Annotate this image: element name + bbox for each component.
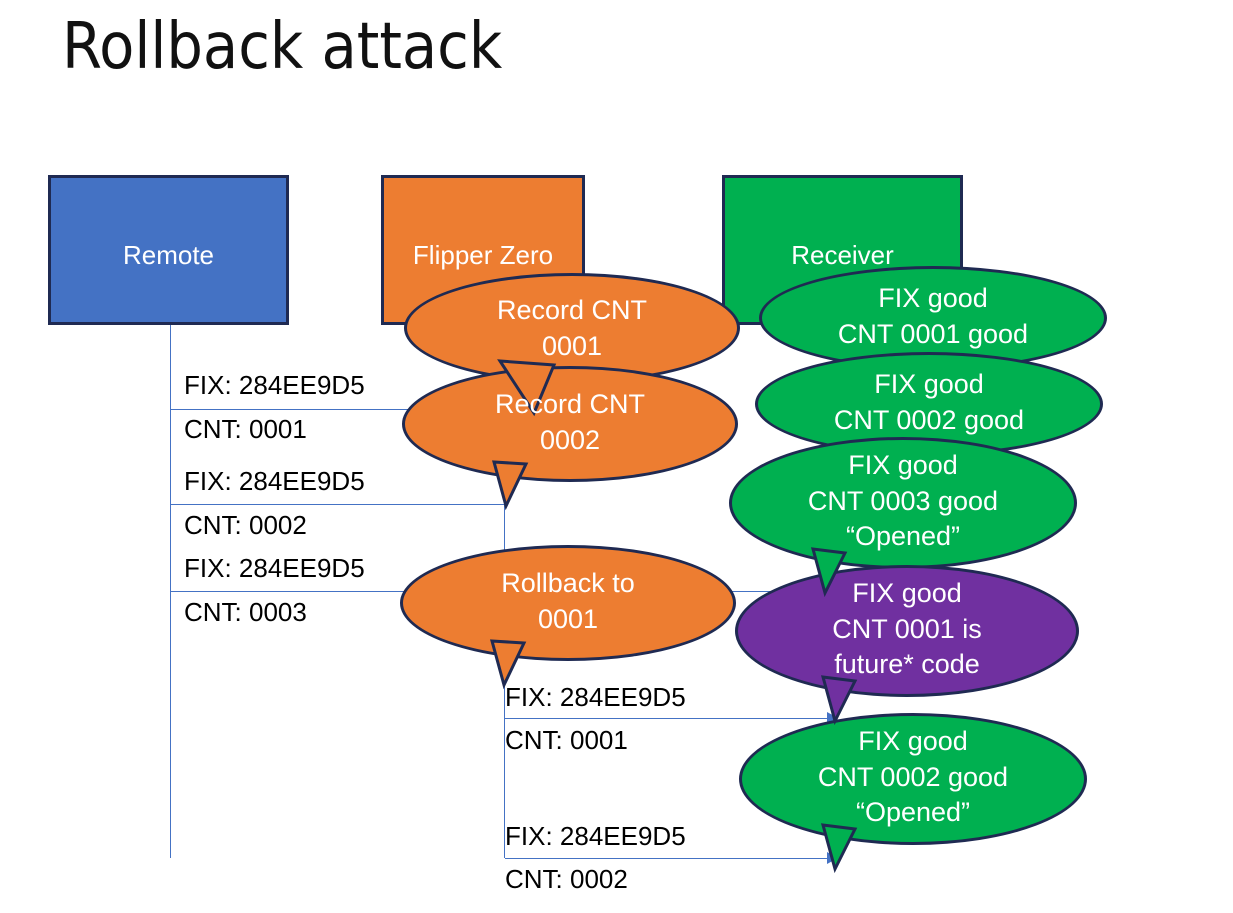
callout-line: FIX good bbox=[759, 281, 1107, 317]
callout-text: Rollback to 0001 bbox=[400, 566, 736, 637]
page-title: Rollback attack bbox=[62, 10, 502, 84]
callout-line: FIX good bbox=[729, 448, 1077, 484]
callout-receiver-open-2[interactable]: FIX good CNT 0002 good “Opened” bbox=[739, 713, 1087, 845]
callout-line: CNT 0001 good bbox=[759, 317, 1107, 353]
callout-line: CNT 0001 is bbox=[735, 612, 1079, 648]
callout-text: FIX good CNT 0002 good “Opened” bbox=[739, 724, 1087, 831]
callout-line: Record CNT bbox=[404, 293, 740, 329]
callout-line: “Opened” bbox=[729, 519, 1077, 555]
callout-text: Record CNT 0002 bbox=[402, 387, 738, 458]
actor-box-remote[interactable]: Remote bbox=[48, 175, 289, 325]
callout-line: 0002 bbox=[402, 423, 738, 459]
callout-line: FIX good bbox=[739, 724, 1087, 760]
message-fix-2: FIX: 284EE9D5 bbox=[184, 466, 365, 497]
callout-flipper-rollback[interactable]: Rollback to 0001 bbox=[400, 545, 736, 661]
actor-label-flipper: Flipper Zero bbox=[384, 240, 582, 271]
callout-text: Record CNT 0001 bbox=[404, 293, 740, 364]
message-fix-3: FIX: 284EE9D5 bbox=[184, 553, 365, 584]
callout-line: CNT 0002 good bbox=[755, 403, 1103, 439]
message-fix-5: FIX: 284EE9D5 bbox=[505, 821, 686, 852]
message-cnt-4: CNT: 0001 bbox=[505, 725, 628, 756]
callout-text: FIX good CNT 0003 good “Opened” bbox=[729, 448, 1077, 555]
actor-label-remote: Remote bbox=[51, 240, 286, 271]
callout-line: Record CNT bbox=[402, 387, 738, 423]
callout-line: FIX good bbox=[755, 367, 1103, 403]
slide-canvas: Rollback attack Remote Flipper Zero Rece… bbox=[0, 0, 1233, 898]
callout-line: CNT 0002 good bbox=[739, 760, 1087, 796]
callout-flipper-record-2[interactable]: Record CNT 0002 bbox=[402, 366, 738, 482]
callout-line: future* code bbox=[735, 647, 1079, 683]
callout-receiver-reject[interactable]: FIX good CNT 0001 is future* code bbox=[735, 565, 1079, 697]
callout-text: FIX good CNT 0001 is future* code bbox=[735, 576, 1079, 683]
message-cnt-2: CNT: 0002 bbox=[184, 510, 307, 541]
callout-text: FIX good CNT 0001 good bbox=[759, 281, 1107, 352]
callout-line: “Opened” bbox=[739, 795, 1087, 831]
message-fix-1: FIX: 284EE9D5 bbox=[184, 370, 365, 401]
callout-text: FIX good CNT 0002 good bbox=[755, 367, 1103, 438]
message-cnt-5: CNT: 0002 bbox=[505, 864, 628, 895]
callout-line: Rollback to bbox=[400, 566, 736, 602]
callout-line: CNT 0003 good bbox=[729, 484, 1077, 520]
callout-line: 0001 bbox=[400, 602, 736, 638]
callout-line: FIX good bbox=[735, 576, 1079, 612]
callout-line: 0001 bbox=[404, 329, 740, 365]
callout-receiver-open-1[interactable]: FIX good CNT 0003 good “Opened” bbox=[729, 437, 1077, 569]
message-cnt-3: CNT: 0003 bbox=[184, 597, 307, 628]
message-cnt-1: CNT: 0001 bbox=[184, 414, 307, 445]
